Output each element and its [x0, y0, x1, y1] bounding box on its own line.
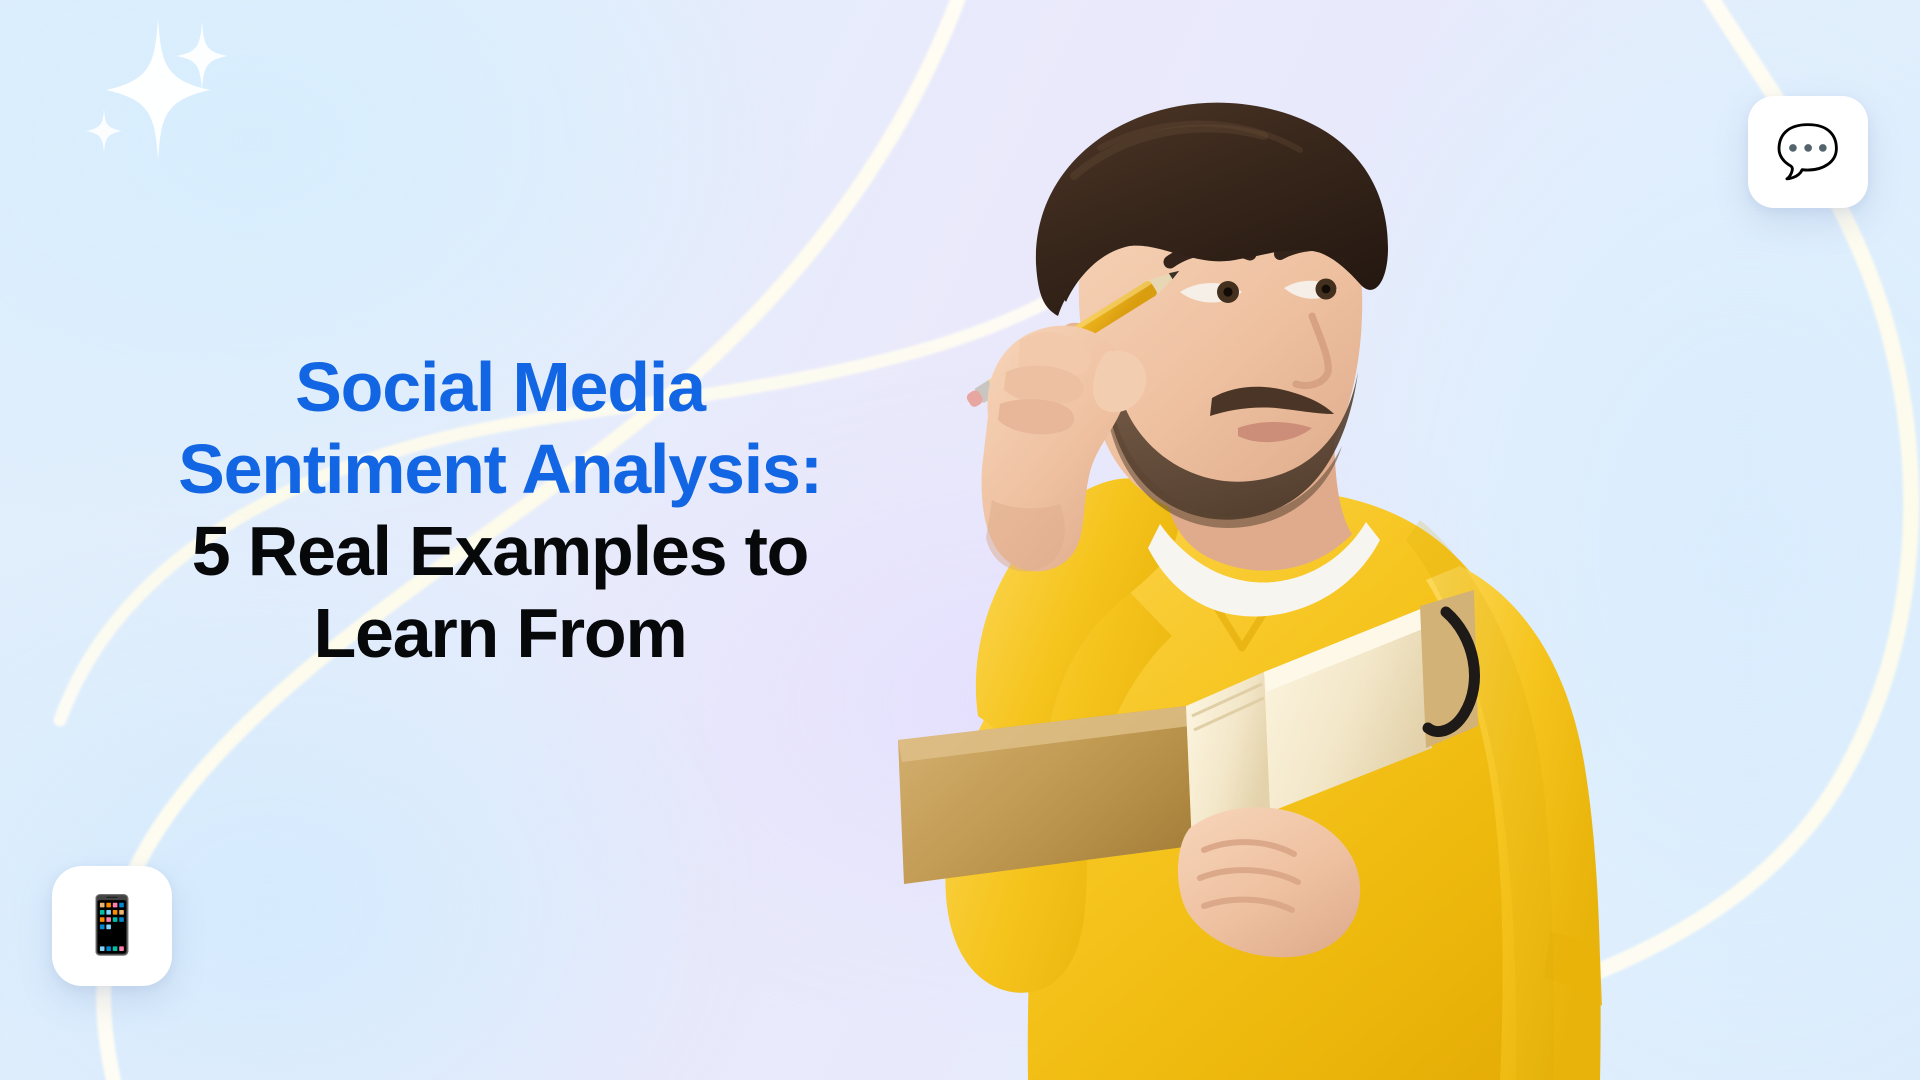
chat-bubble-card: 💬	[1748, 96, 1868, 208]
page-title: Social Media Sentiment Analysis: 5 Real …	[100, 347, 900, 675]
headline-line-2: Sentiment Analysis:	[100, 429, 900, 511]
mobile-phone-icon: 📱	[77, 898, 147, 954]
headline-line-3: 5 Real Examples to	[100, 511, 900, 593]
phone-card: 📱	[52, 866, 172, 986]
headline-line-1: Social Media	[100, 347, 900, 429]
sparkle-icon	[60, 8, 250, 158]
blog-hero-banner: 💬 📱 Social Media Sentiment Analysis: 5 R…	[0, 0, 1920, 1080]
speech-bubble-icon: 💬	[1776, 126, 1841, 178]
headline-line-4: Learn From	[100, 593, 900, 675]
